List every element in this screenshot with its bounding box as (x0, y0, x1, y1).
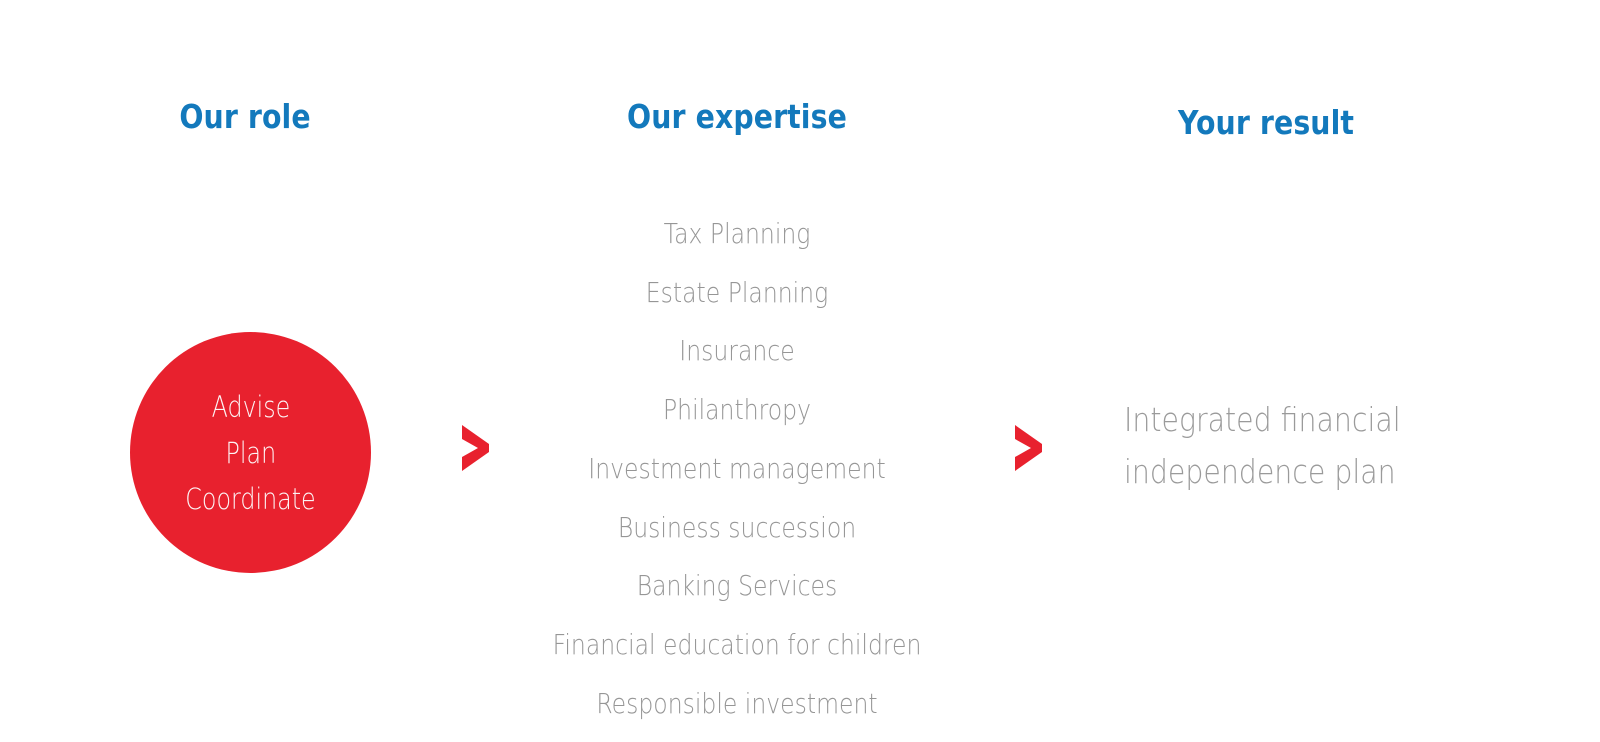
role-circle: Advise Plan Coordinate (130, 332, 371, 573)
result-text-line-1: Integrated financial (1124, 394, 1468, 446)
expertise-item: Insurance (527, 322, 947, 381)
expertise-item: Business succession (527, 499, 947, 558)
role-circle-line-advise: Advise (211, 384, 290, 430)
expertise-item: Estate Planning (527, 264, 947, 323)
expertise-item: Investment management (527, 440, 947, 499)
column-heading-our-expertise: Our expertise (522, 97, 952, 136)
column-heading-our-role: Our role (34, 97, 455, 136)
expertise-item: Responsible investment (527, 675, 947, 734)
column-heading-your-result: Your result (1051, 103, 1481, 142)
result-text-line-2: independence plan (1124, 446, 1468, 498)
role-circle-line-plan: Plan (225, 430, 276, 476)
role-circle-line-coordinate: Coordinate (185, 476, 315, 522)
expertise-list: Tax Planning Estate Planning Insurance P… (487, 205, 987, 733)
expertise-item: Tax Planning (527, 205, 947, 264)
expertise-item: Financial education for children (527, 616, 947, 675)
expertise-item: Philanthropy (527, 381, 947, 440)
expertise-item: Banking Services (527, 557, 947, 616)
process-diagram-slide: Our role Our expertise Your result Advis… (0, 0, 1600, 742)
result-text: Integrated financial independence plan (1124, 394, 1468, 498)
chevron-right-icon (1012, 419, 1046, 477)
